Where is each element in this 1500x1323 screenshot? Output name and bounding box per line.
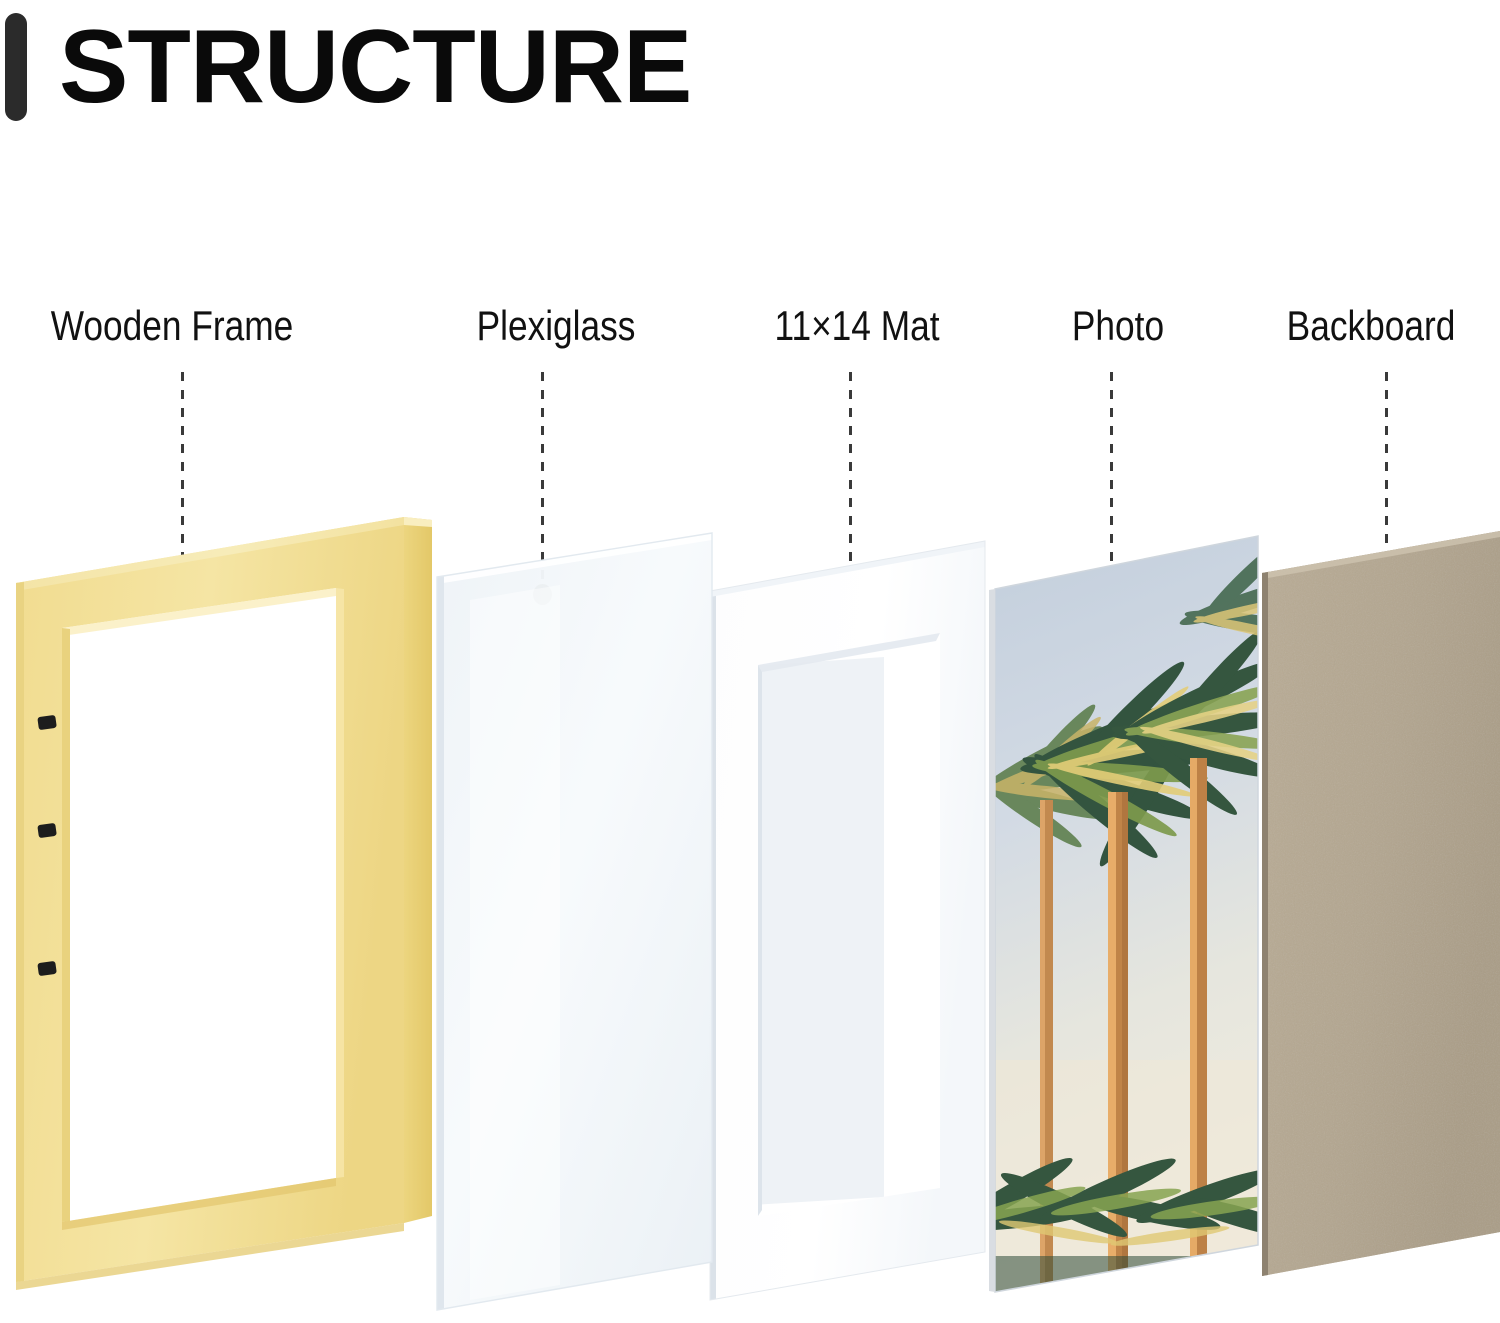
layers-svg bbox=[0, 0, 1500, 1323]
layer-backboard bbox=[1262, 531, 1500, 1276]
layer-plexiglass bbox=[437, 533, 712, 1310]
exploded-layers-stage bbox=[0, 0, 1500, 1323]
layer-wooden-frame bbox=[16, 517, 432, 1290]
diagram-page: STRUCTURE Wooden Frame Plexiglass 11×14 … bbox=[0, 0, 1500, 1323]
